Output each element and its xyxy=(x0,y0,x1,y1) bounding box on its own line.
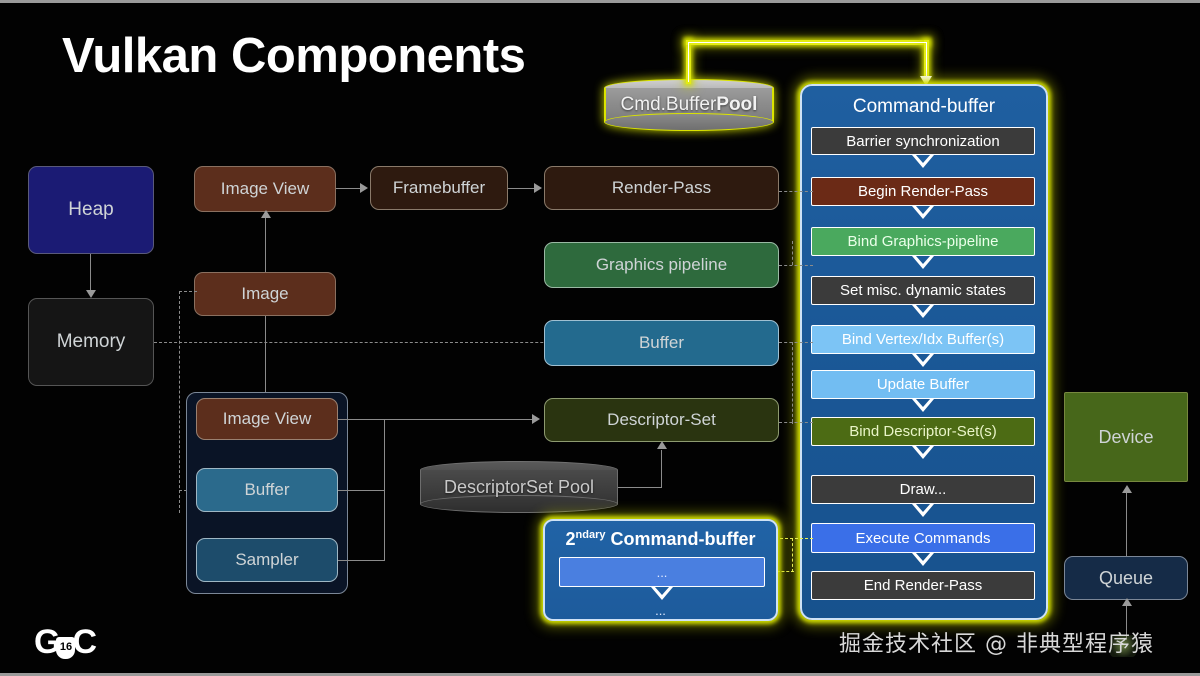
cmd-step-0-label: Barrier synchronization xyxy=(846,133,999,150)
cmd-buffer-pool-prefix: Cmd.Buffer xyxy=(621,94,717,116)
secondary-prefix: 2 xyxy=(566,529,576,549)
connector-framebuffer-renderpass xyxy=(508,188,536,189)
elbow-horizontal-inner xyxy=(688,42,927,43)
arrowhead-group-descriptorset xyxy=(532,414,540,424)
node-buffer-group[interactable]: Buffer xyxy=(196,468,338,512)
node-render-pass[interactable]: Render-Pass xyxy=(544,166,779,210)
stub-imageview-out xyxy=(338,419,384,420)
node-device[interactable]: Device xyxy=(1064,392,1188,482)
descriptorset-pool[interactable]: DescriptorSet Pool xyxy=(420,461,618,513)
arrowhead-queue-device xyxy=(1122,485,1132,493)
node-render-pass-label: Render-Pass xyxy=(612,178,711,198)
node-image-label: Image xyxy=(241,284,288,304)
node-buffer-mid[interactable]: Buffer xyxy=(544,320,779,366)
cmd-step-bind-graphics-pipeline[interactable]: Bind Graphics-pipeline xyxy=(811,227,1035,256)
page-title: Vulkan Components xyxy=(62,28,525,84)
stub-buffer-out xyxy=(338,490,384,491)
cmd-step-2-label: Bind Graphics-pipeline xyxy=(848,233,999,250)
node-image-view-top[interactable]: Image View xyxy=(194,166,336,212)
connector-pool-commandbuffer xyxy=(686,40,932,86)
arrowhead-imageview-framebuffer xyxy=(360,183,368,193)
node-image-view-group-label: Image View xyxy=(223,409,312,429)
cmd-buffer-pool-label: Cmd.Buffer Pool xyxy=(604,79,774,131)
cmd-step-1-label: Begin Render-Pass xyxy=(858,183,988,200)
dashed-pipeline-bind xyxy=(779,265,813,266)
descriptorset-pool-label: DescriptorSet Pool xyxy=(420,461,618,513)
secondary-command-buffer-title: 2ndary Command-buffer xyxy=(545,529,776,550)
stub-merge-vertical xyxy=(384,419,385,561)
stub-sampler-out xyxy=(338,560,384,561)
node-framebuffer-label: Framebuffer xyxy=(393,178,485,198)
secondary-chevron xyxy=(651,587,673,600)
arrowhead-framebuffer-renderpass xyxy=(534,183,542,193)
cmd-step-execute-commands[interactable]: Execute Commands xyxy=(811,523,1035,553)
node-queue-label: Queue xyxy=(1099,568,1153,589)
cmd-step-set-misc-dynamic-states[interactable]: Set misc. dynamic states xyxy=(811,276,1035,305)
secondary-superscript: ndary xyxy=(576,529,606,541)
secondary-title-text: Command-buffer xyxy=(611,529,756,549)
cmd-step-begin-render-pass[interactable]: Begin Render-Pass xyxy=(811,177,1035,206)
node-descriptor-set-label: Descriptor-Set xyxy=(607,410,716,430)
cmd-step-4-label: Bind Vertex/Idx Buffer(s) xyxy=(842,331,1004,348)
cmd-step-update-buffer[interactable]: Update Buffer xyxy=(811,370,1035,399)
cmd-step-9-label: End Render-Pass xyxy=(864,577,982,594)
cmd-step-end-render-pass[interactable]: End Render-Pass xyxy=(811,571,1035,600)
node-image-view-top-label: Image View xyxy=(221,179,310,199)
cmd-buffer-pool-bold: Pool xyxy=(716,94,757,116)
connector-imageview-framebuffer xyxy=(336,188,362,189)
node-heap-label: Heap xyxy=(68,199,113,221)
dashed-buffer-drop xyxy=(792,342,793,422)
node-sampler-group[interactable]: Sampler xyxy=(196,538,338,582)
cmd-step-3-label: Set misc. dynamic states xyxy=(840,282,1006,299)
cmd-step-8-label: Execute Commands xyxy=(855,530,990,547)
connector-image-group xyxy=(265,316,266,398)
node-image[interactable]: Image xyxy=(194,272,336,316)
secondary-bar-dots: ... xyxy=(657,565,668,580)
cmd-step-bind-vertex-idx-buffer[interactable]: Bind Vertex/Idx Buffer(s) xyxy=(811,325,1035,354)
frame-top-border xyxy=(0,0,1200,3)
connector-pool-descriptorset-h xyxy=(618,487,662,488)
command-buffer-title: Command-buffer xyxy=(802,96,1046,118)
arrowhead-image-imageview xyxy=(261,210,271,218)
cmd-step-draw[interactable]: Draw... xyxy=(811,475,1035,504)
node-descriptor-set[interactable]: Descriptor-Set xyxy=(544,398,779,442)
node-device-label: Device xyxy=(1098,427,1153,448)
cmd-step-barrier-synchronization[interactable]: Barrier synchronization xyxy=(811,127,1035,155)
cmd-step-bind-descriptor-sets[interactable]: Bind Descriptor-Set(s) xyxy=(811,417,1035,446)
node-memory-label: Memory xyxy=(57,331,126,353)
arrowhead-pool-descriptorset xyxy=(657,441,667,449)
connector-heap-memory xyxy=(90,254,91,294)
secondary-command-buffer: 2ndary Command-buffer ... ... xyxy=(543,519,778,621)
cmd-step-6-label: Bind Descriptor-Set(s) xyxy=(849,423,997,440)
connector-queue-device xyxy=(1126,490,1127,556)
cmd-buffer-pool[interactable]: Cmd.Buffer Pool xyxy=(604,79,774,131)
elbow-left-inner xyxy=(688,42,689,82)
slide-root: Vulkan Components Heap Memory Image View… xyxy=(0,0,1200,676)
elbow-right-inner xyxy=(926,42,927,78)
gdc-logo-badge: 16 xyxy=(56,637,75,659)
dashed-descriptorset-drop xyxy=(792,420,793,424)
connector-image-imageview xyxy=(265,212,266,272)
dashed-renderpass-begin xyxy=(779,191,813,192)
gdc-logo-right: C xyxy=(72,623,96,661)
connector-group-descriptorset xyxy=(384,419,534,420)
node-buffer-mid-label: Buffer xyxy=(639,333,684,353)
secondary-command-bar[interactable]: ... xyxy=(559,557,765,587)
dashed-branch-to-image xyxy=(179,291,197,292)
arrowhead-heap-memory xyxy=(86,290,96,298)
cmd-step-5-label: Update Buffer xyxy=(877,376,969,393)
node-graphics-pipeline-label: Graphics pipeline xyxy=(596,255,727,275)
secondary-trailing-dots: ... xyxy=(545,603,776,618)
node-queue[interactable]: Queue xyxy=(1064,556,1188,600)
cmd-step-7-label: Draw... xyxy=(900,481,947,498)
watermark-text: 掘金技术社区 @ 非典型程序猿 xyxy=(839,626,1154,658)
dashed-secondary-vertical xyxy=(792,538,793,572)
node-heap[interactable]: Heap xyxy=(28,166,154,254)
gdc-logo: G16C xyxy=(34,623,96,662)
node-graphics-pipeline[interactable]: Graphics pipeline xyxy=(544,242,779,288)
arrowhead-below-queue xyxy=(1122,598,1132,606)
dashed-buffer-bindvertex xyxy=(779,342,813,343)
node-image-view-group[interactable]: Image View xyxy=(196,398,338,440)
connector-pool-descriptorset-v xyxy=(661,450,662,488)
node-memory[interactable]: Memory xyxy=(28,298,154,386)
dashed-descriptorset-bind xyxy=(779,422,813,423)
node-buffer-group-label: Buffer xyxy=(244,480,289,500)
node-sampler-group-label: Sampler xyxy=(235,550,298,570)
node-framebuffer[interactable]: Framebuffer xyxy=(370,166,508,210)
dashed-memory-branch-v xyxy=(179,291,180,513)
dashed-pipeline-drop xyxy=(792,241,793,265)
dashed-secondary-execute xyxy=(780,538,813,539)
